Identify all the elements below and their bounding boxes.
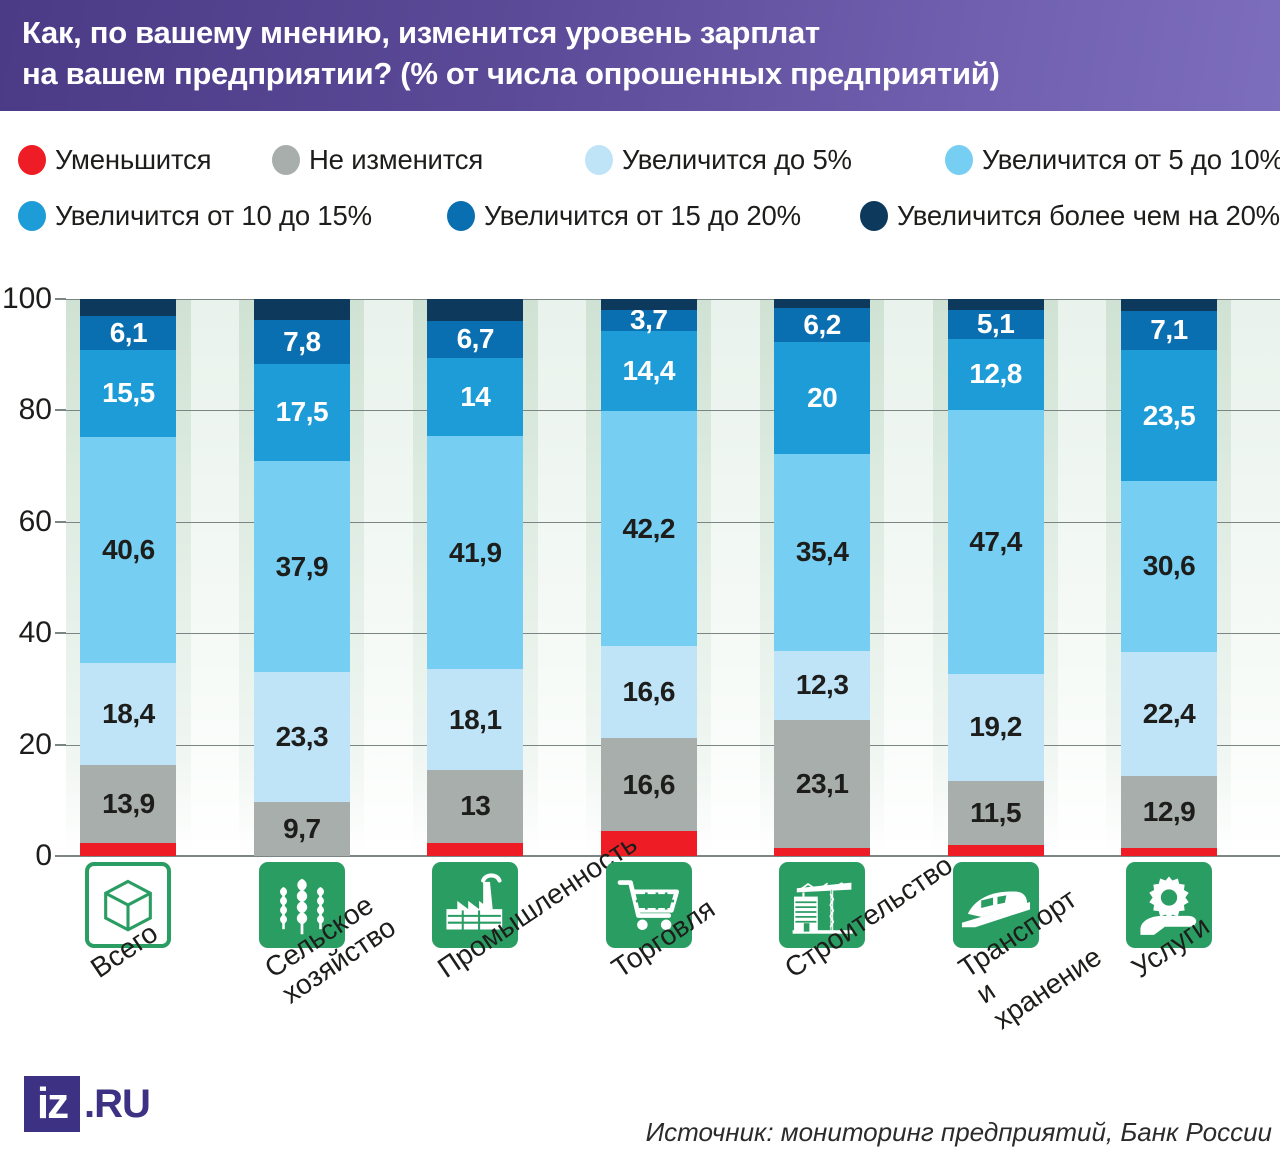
- bar-segment[interactable]: 22,4: [1121, 652, 1217, 777]
- legend-swatch-up-to-5: [585, 145, 613, 175]
- legend-swatch-5-to-10: [945, 145, 973, 175]
- bar-segment-value: 6,7: [457, 325, 494, 353]
- bar-segment[interactable]: 20: [774, 342, 870, 453]
- bar-segment[interactable]: [1121, 299, 1217, 311]
- y-tick-label: 40: [19, 616, 52, 650]
- bar-segment-value: 17,5: [276, 398, 329, 426]
- legend-label-5: Увеличится от 15 до 20%: [484, 200, 801, 232]
- bar-group[interactable]: 13,918,440,615,56,1: [80, 299, 176, 856]
- stacked-bar: 11,519,247,412,85,1: [948, 299, 1044, 856]
- legend-item-4: Увеличится от 10 до 15%: [18, 196, 372, 236]
- legend-item-6: Увеличится более чем на 20%: [860, 196, 1280, 236]
- bar-segment-value: 14,4: [622, 357, 675, 385]
- bar-segment[interactable]: [1121, 848, 1217, 856]
- bar-group[interactable]: 12,922,430,623,57,1: [1121, 299, 1217, 856]
- bar-group[interactable]: 16,616,642,214,43,7: [601, 299, 697, 856]
- bar-segment[interactable]: [427, 843, 523, 856]
- bar-segment[interactable]: 12,8: [948, 339, 1044, 410]
- bar-segment-value: 20: [807, 384, 837, 412]
- y-tick-mark: [55, 298, 66, 300]
- bar-segment-value: 22,4: [1143, 700, 1196, 728]
- bar-segment[interactable]: [427, 299, 523, 321]
- bar-segment[interactable]: 11,5: [948, 781, 1044, 845]
- category-axis: ВсегоСельское хозяйствоПромышленностьТор…: [66, 862, 1280, 1082]
- bar-segment-value: 42,2: [622, 515, 675, 543]
- logo-text: .RU: [84, 1082, 150, 1127]
- bar-segment-value: 18,1: [449, 706, 502, 734]
- logo-mark: iz: [24, 1076, 80, 1132]
- bar-segment[interactable]: 5,1: [948, 310, 1044, 338]
- bar-group[interactable]: 1318,141,9146,7: [427, 299, 523, 856]
- stacked-bar: 12,922,430,623,57,1: [1121, 299, 1217, 856]
- bar-segment[interactable]: [774, 848, 870, 856]
- bar-segment-value: 12,3: [796, 671, 849, 699]
- bar-segment[interactable]: 35,4: [774, 454, 870, 651]
- bar-segment-value: 41,9: [449, 539, 502, 567]
- bar-segment[interactable]: 41,9: [427, 436, 523, 669]
- legend-item-0: Уменьшится: [18, 140, 211, 180]
- y-tick-mark: [55, 521, 66, 523]
- legend-swatch-10-to-15: [18, 201, 46, 231]
- bar-segment-value: 13,9: [102, 790, 155, 818]
- legend-swatch-decrease: [18, 145, 46, 175]
- bar-segment[interactable]: 47,4: [948, 410, 1044, 674]
- legend-row-2: Увеличится от 10 до 15% Увеличится от 15…: [0, 196, 1280, 248]
- bar-segment[interactable]: [254, 299, 350, 320]
- bar-segment[interactable]: 7,8: [254, 320, 350, 363]
- category-item[interactable]: Всего: [85, 862, 171, 948]
- bar-segment[interactable]: 40,6: [80, 437, 176, 663]
- legend-label-3: Увеличится от 5 до 10%: [982, 144, 1280, 176]
- bar-segment[interactable]: [601, 299, 697, 310]
- legend-item-2: Увеличится до 5%: [585, 140, 852, 180]
- iz-ru-logo[interactable]: iz .RU: [24, 1076, 150, 1132]
- bar-segment[interactable]: 12,3: [774, 651, 870, 720]
- bar-segment[interactable]: 37,9: [254, 461, 350, 672]
- bar-segment[interactable]: 16,6: [601, 646, 697, 738]
- bar-segment-value: 19,2: [969, 713, 1022, 741]
- legend-swatch-15-to-20: [447, 201, 475, 231]
- bar-segment[interactable]: [948, 845, 1044, 856]
- bar-segment-value: 37,9: [276, 553, 329, 581]
- bar-segment-value: 3,7: [630, 306, 667, 334]
- y-tick-label: 100: [2, 282, 52, 316]
- y-tick-mark: [55, 855, 66, 857]
- y-tick-mark: [55, 409, 66, 411]
- bar-segment-value: 23,3: [276, 723, 329, 751]
- y-tick-label: 0: [35, 839, 52, 873]
- bar-group[interactable]: 11,519,247,412,85,1: [948, 299, 1044, 856]
- title-line-2: на вашем предприятии? (% от числа опроше…: [22, 53, 1262, 94]
- bar-segment[interactable]: 30,6: [1121, 481, 1217, 651]
- bar-segment-value: 6,2: [803, 311, 840, 339]
- bar-segment-value: 23,5: [1143, 402, 1196, 430]
- bar-segment-value: 15,5: [102, 379, 155, 407]
- legend-label-6: Увеличится более чем на 20%: [897, 200, 1280, 232]
- y-tick-mark: [55, 744, 66, 746]
- legend-label-4: Увеличится от 10 до 15%: [55, 200, 372, 232]
- bar-segment-value: 16,6: [622, 678, 675, 706]
- bar-segment[interactable]: [80, 843, 176, 856]
- bar-segment-value: 12,8: [969, 360, 1022, 388]
- bar-segment-value: 7,8: [283, 328, 320, 356]
- bar-series-container: 13,918,440,615,56,19,723,337,917,57,8131…: [66, 299, 1280, 856]
- bar-segment[interactable]: 19,2: [948, 674, 1044, 781]
- category-item[interactable]: Транспорт и хранение: [953, 862, 1039, 948]
- y-axis-labels: 020406080100: [0, 299, 52, 856]
- legend-item-1: Не изменится: [272, 140, 483, 180]
- bar-segment[interactable]: 6,7: [427, 321, 523, 358]
- bar-segment[interactable]: 12,9: [1121, 776, 1217, 848]
- y-tick-label: 80: [19, 393, 52, 427]
- bar-segment-value: 11,5: [970, 799, 1021, 827]
- bar-segment[interactable]: 6,2: [774, 308, 870, 343]
- legend-label-2: Увеличится до 5%: [622, 144, 852, 176]
- bar-segment[interactable]: 17,5: [254, 364, 350, 461]
- bar-segment-value: 14: [460, 383, 490, 411]
- y-tick-label: 60: [19, 505, 52, 539]
- bar-segment[interactable]: [774, 299, 870, 308]
- bar-segment-value: 18,4: [102, 700, 155, 728]
- bar-segment[interactable]: 6,1: [80, 316, 176, 350]
- bar-segment[interactable]: 42,2: [601, 411, 697, 646]
- bar-segment[interactable]: [80, 299, 176, 316]
- category-item[interactable]: Сельское хозяйство: [259, 862, 345, 948]
- bar-segment-value: 30,6: [1143, 552, 1196, 580]
- bar-segment[interactable]: 14,4: [601, 331, 697, 411]
- stacked-bar: 9,723,337,917,57,8: [254, 299, 350, 856]
- y-tick-label: 20: [19, 728, 52, 762]
- bar-segment-value: 23,1: [796, 770, 849, 798]
- y-tick-mark: [55, 632, 66, 634]
- bar-segment[interactable]: 13: [427, 770, 523, 842]
- bar-segment[interactable]: 13,9: [80, 765, 176, 842]
- bar-segment[interactable]: 18,1: [427, 669, 523, 770]
- bar-segment[interactable]: [948, 299, 1044, 310]
- legend-item-5: Увеличится от 15 до 20%: [447, 196, 801, 236]
- category-item[interactable]: Строительство: [779, 862, 865, 948]
- bar-segment[interactable]: 23,5: [1121, 350, 1217, 481]
- bar-segment[interactable]: 14: [427, 358, 523, 436]
- bar-segment[interactable]: 18,4: [80, 663, 176, 765]
- legend-label-0: Уменьшится: [55, 144, 211, 176]
- bar-segment-value: 6,1: [110, 319, 147, 347]
- bar-segment-value: 7,1: [1150, 316, 1187, 344]
- bar-segment[interactable]: 15,5: [80, 350, 176, 436]
- bar-segment-value: 5,1: [977, 310, 1014, 338]
- title-line-1: Как, по вашему мнению, изменится уровень…: [22, 12, 1262, 53]
- legend-label-1: Не изменится: [309, 144, 483, 176]
- bar-segment[interactable]: 3,7: [601, 310, 697, 331]
- title-banner: Как, по вашему мнению, изменится уровень…: [0, 0, 1280, 111]
- bar-segment-value: 16,6: [622, 771, 675, 799]
- stacked-bar: 23,112,335,4206,2: [774, 299, 870, 856]
- stacked-bar: 16,616,642,214,43,7: [601, 299, 697, 856]
- bar-segment[interactable]: 23,1: [774, 720, 870, 849]
- bar-segment-value: 9,7: [283, 815, 320, 843]
- stacked-bar: 13,918,440,615,56,1: [80, 299, 176, 856]
- bar-segment[interactable]: 23,3: [254, 672, 350, 802]
- bar-segment-value: 35,4: [796, 538, 849, 566]
- legend-swatch-over-20: [860, 201, 888, 231]
- legend-swatch-nochange: [272, 145, 300, 175]
- bar-segment[interactable]: 16,6: [601, 738, 697, 830]
- bar-segment[interactable]: 9,7: [254, 802, 350, 856]
- bar-segment-value: 47,4: [969, 528, 1022, 556]
- bar-group[interactable]: 9,723,337,917,57,8: [254, 299, 350, 856]
- source-note: Источник: мониторинг предприятий, Банк Р…: [646, 1117, 1272, 1148]
- stacked-bar: 1318,141,9146,7: [427, 299, 523, 856]
- category-item[interactable]: Услуги: [1126, 862, 1212, 948]
- plot-area: 020406080100 13,918,440,615,56,19,723,33…: [66, 299, 1280, 856]
- bar-segment-value: 40,6: [102, 536, 155, 564]
- chart-legend: Уменьшится Не изменится Увеличится до 5%…: [0, 120, 1280, 255]
- bar-segment-value: 13: [460, 792, 490, 820]
- bar-segment-value: 12,9: [1143, 798, 1196, 826]
- legend-row-1: Уменьшится Не изменится Увеличится до 5%…: [0, 140, 1280, 192]
- legend-item-3: Увеличится от 5 до 10%: [945, 140, 1280, 180]
- category-item[interactable]: Промышленность: [432, 862, 518, 948]
- bar-segment[interactable]: 7,1: [1121, 311, 1217, 351]
- infographic-root: Как, по вашему мнению, изменится уровень…: [0, 0, 1280, 1153]
- bar-group[interactable]: 23,112,335,4206,2: [774, 299, 870, 856]
- category-item[interactable]: Торговля: [606, 862, 692, 948]
